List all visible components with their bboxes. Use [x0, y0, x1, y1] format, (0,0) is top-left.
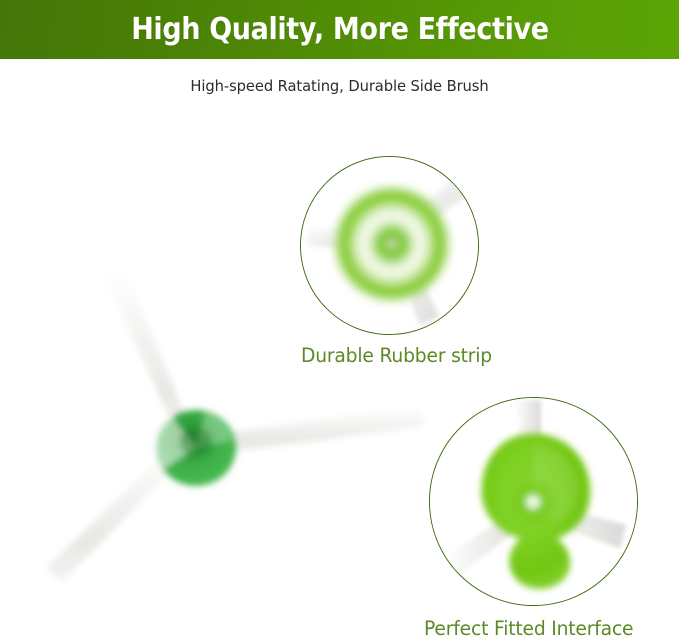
- subtitle-text: High-speed Ratating, Durable Side Brush: [17, 77, 662, 95]
- header-banner: High Quality, More Effective: [0, 0, 679, 59]
- brush-hub-group: [153, 410, 236, 486]
- hub-center-pin: [526, 495, 540, 509]
- callout-circle-perfect-fitted-interface[interactable]: [429, 397, 638, 606]
- callout-2-label: Perfect Fitted Interface: [424, 617, 633, 640]
- brush-arm-right: [200, 406, 424, 456]
- hub-center-pin: [388, 240, 397, 249]
- page-title: High Quality, More Effective: [131, 15, 548, 45]
- callout-1-detail-image: [301, 157, 478, 334]
- product-feature-image: High Quality, More Effective High-speed …: [0, 0, 679, 640]
- callout-circle-durable-rubber-strip[interactable]: [300, 156, 479, 335]
- hub-slot-upper: [196, 412, 232, 448]
- hub-center-dimple: [180, 428, 212, 456]
- callout-1-rubber-rings: [335, 187, 450, 302]
- hub-slot-left: [153, 415, 196, 470]
- brush-hub: [156, 410, 236, 486]
- callout-1-label: Durable Rubber strip: [301, 344, 492, 367]
- brush-arm-upper-left: [104, 270, 196, 448]
- brush-arm-lower-left: [46, 442, 186, 582]
- callout-2-detail-image: [430, 398, 637, 605]
